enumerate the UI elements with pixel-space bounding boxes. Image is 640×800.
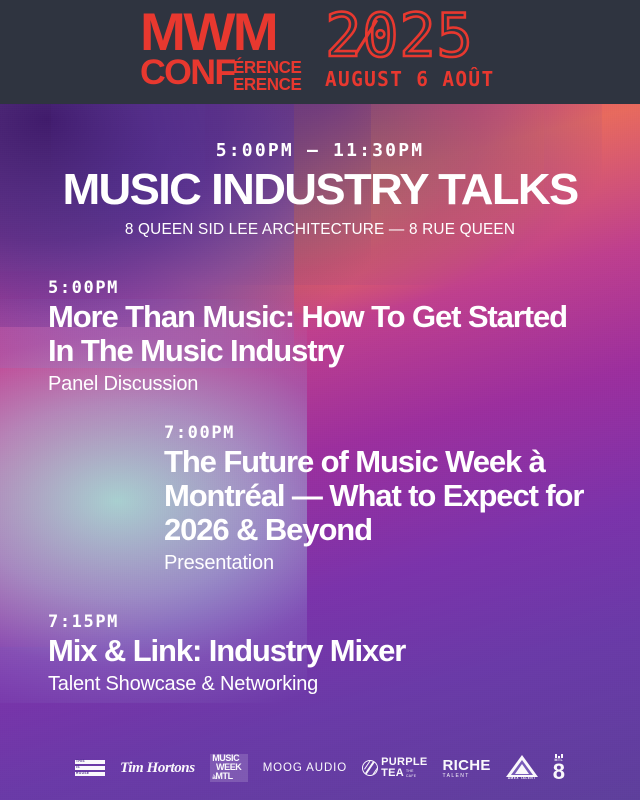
event-poster: MWM CONF ÉRENCE ERENCE 2025 AUGUST 6 AOÛ…: [0, 0, 640, 800]
event-subtitle: Presentation: [164, 551, 604, 575]
triangle-icon: AMEX TALENT: [506, 755, 538, 781]
purple-tea-tag-2: CAFE: [406, 774, 416, 778]
event-time: 5:00PM: [48, 278, 588, 298]
headline-venue: 8 QUEEN SID LEE ARCHITECTURE — 8 RUE QUE…: [3, 221, 637, 239]
moog-audio-label: MOOG AUDIO: [263, 762, 347, 774]
event-title: The Future of Music Week à Montréal — Wh…: [164, 445, 604, 547]
tim-hortons-label: Tim Hortons: [120, 760, 195, 776]
tim-hortons-wordmark: Tim Hortons: [120, 760, 195, 777]
sponsor-logo-purple-tea: PURPLE TEA THECAFE: [362, 757, 427, 779]
riche-line-1: RICHE: [443, 758, 491, 773]
sponsor-logo-strip: THIS IS HOUSE Tim Hortons MUSIC WEEK àMT…: [0, 754, 640, 782]
riche-line-2: TALENT: [443, 774, 491, 779]
eight-number: 8: [553, 763, 565, 782]
event-time: 7:15PM: [48, 612, 568, 632]
event-item: 7:00PM The Future of Music Week à Montré…: [164, 423, 604, 575]
mw-mtl: MTL: [215, 771, 232, 781]
sponsor-logo-eight: MTL 8: [553, 754, 565, 782]
sponsor-logo-riche-talent: RICHE TALENT: [443, 758, 491, 779]
headline-time-range: 5:00PM – 11:30PM: [0, 140, 640, 161]
amex-talent-caption: AMEX TALENT: [508, 776, 536, 780]
purple-tea-icon: [362, 760, 378, 776]
event-title: More Than Music: How To Get Started In T…: [48, 300, 588, 368]
event-subtitle: Panel Discussion: [48, 372, 588, 396]
event-item: 5:00PM More Than Music: How To Get Start…: [48, 278, 588, 396]
page-title: MUSIC INDUSTRY TALKS: [0, 168, 640, 213]
poster-content: 5:00PM – 11:30PM MUSIC INDUSTRY TALKS 8 …: [0, 0, 640, 800]
sponsor-logo-tim-hortons: Tim Hortons: [120, 760, 195, 777]
event-time: 7:00PM: [164, 423, 604, 443]
event-subtitle: Talent Showcase & Networking: [48, 672, 568, 696]
house-line-2: IS: [76, 766, 80, 769]
event-item: 7:15PM Mix & Link: Industry Mixer Talent…: [48, 612, 568, 696]
this-is-house-icon: THIS IS HOUSE: [75, 760, 105, 777]
music-week-mtl-icon: MUSIC WEEK àMTL: [210, 754, 248, 782]
event-title: Mix & Link: Industry Mixer: [48, 634, 568, 668]
triangle-a-mark: [515, 764, 529, 774]
mw-line-3: àMTL: [212, 772, 245, 782]
house-line-3: HOUSE: [76, 772, 89, 775]
sponsor-logo-moog-audio: MOOG AUDIO: [263, 762, 347, 774]
sponsor-logo-music-week-mtl: MUSIC WEEK àMTL: [210, 754, 248, 782]
house-line-1: THIS: [76, 760, 85, 763]
sponsor-logo-this-is-house: THIS IS HOUSE: [75, 760, 105, 777]
headline-block: 5:00PM – 11:30PM MUSIC INDUSTRY TALKS 8 …: [0, 140, 640, 239]
sponsor-logo-amex-talent: AMEX TALENT: [506, 755, 538, 781]
purple-tea-line-2: TEA: [381, 768, 404, 779]
